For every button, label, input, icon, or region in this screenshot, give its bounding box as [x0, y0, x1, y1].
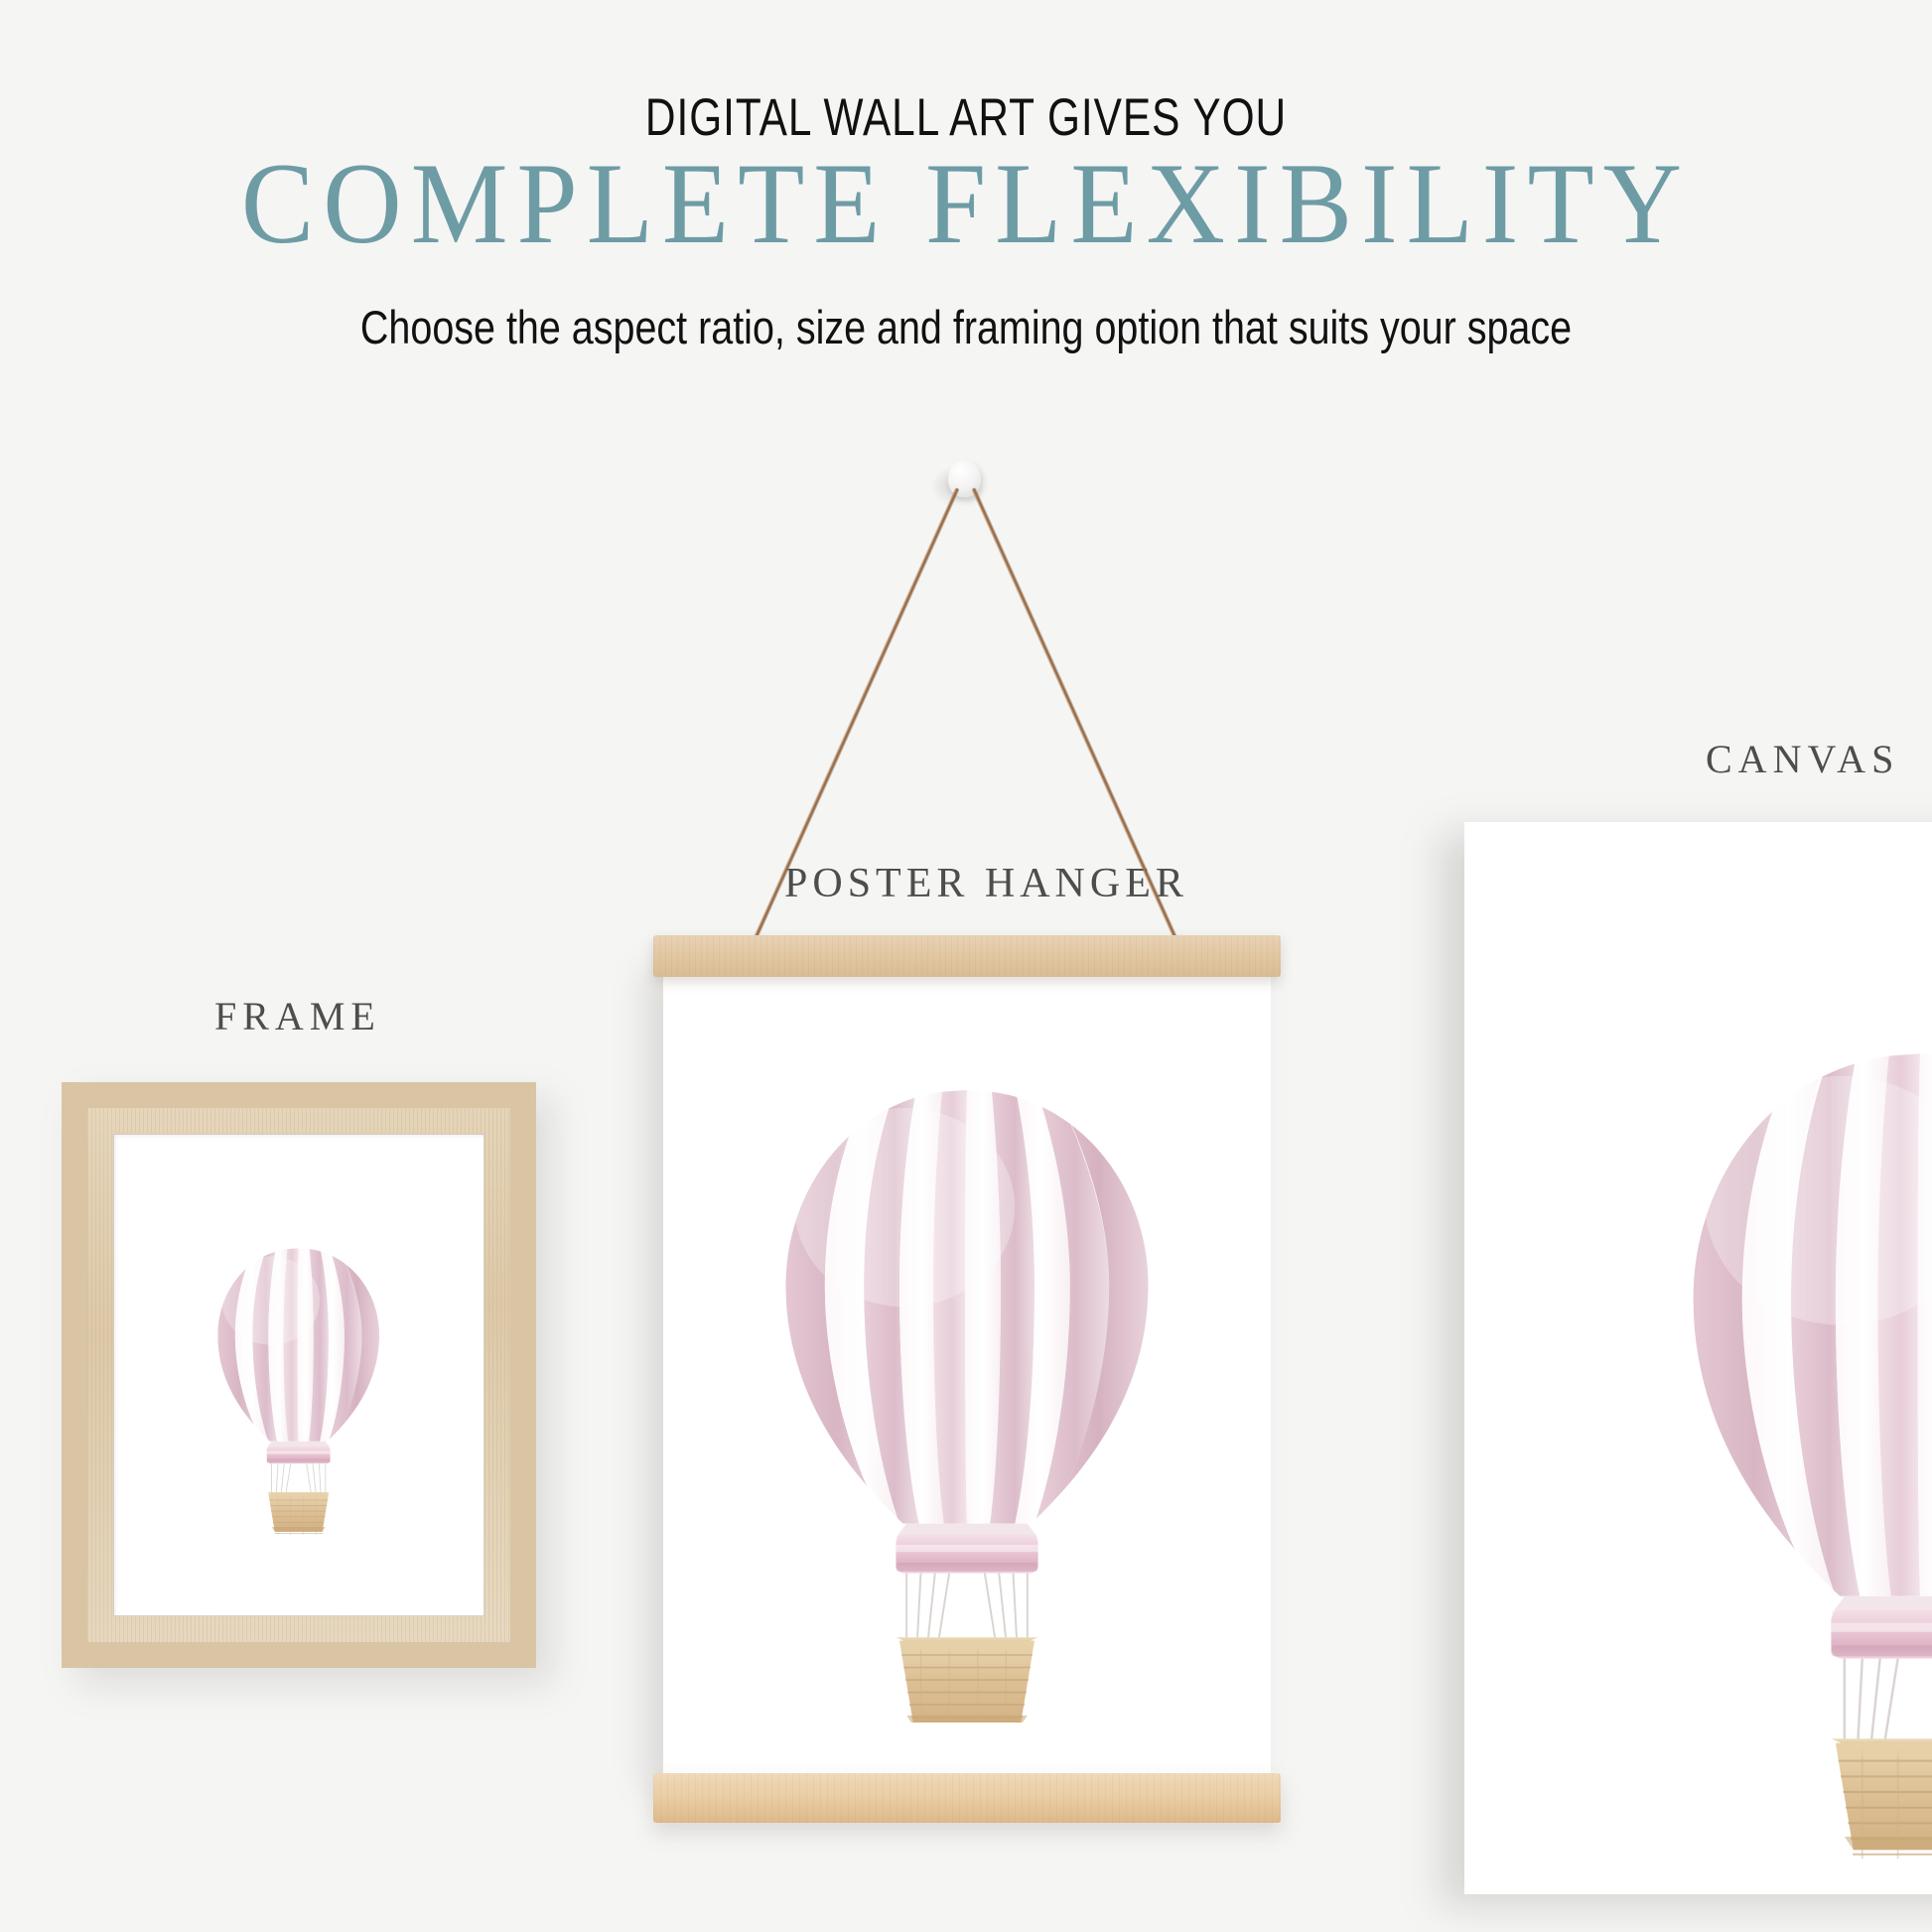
mockup-label-frame: FRAME [214, 993, 381, 1039]
header-subtitle: Choose the aspect ratio, size and framin… [155, 300, 1778, 354]
canvas-print-area [1464, 822, 1932, 1894]
hot-air-balloon-artwork [180, 1196, 417, 1563]
hot-air-balloon-artwork [1587, 951, 1932, 1894]
hot-air-balloon-artwork [663, 1047, 1271, 1723]
mockup-canvas[interactable] [1464, 822, 1932, 1894]
balloon-artwork-frame [180, 1196, 417, 1563]
mockup-frame[interactable] [62, 1082, 536, 1668]
mockup-label-poster-hanger: POSTER HANGER [784, 860, 1188, 907]
hanger-bar-bottom [653, 1773, 1281, 1823]
mockup-label-canvas: CANVAS [1706, 736, 1899, 782]
hanger-bar-top [653, 935, 1281, 977]
wall-art-mockup-page: DIGITAL WALL ART GIVES YOU COMPLETE FLEX… [0, 0, 1932, 1932]
balloon-artwork-poster [663, 1047, 1271, 1723]
balloon-artwork-canvas [1587, 951, 1932, 1894]
page-title: COMPLETE FLEXIBILITY [0, 137, 1932, 271]
frame-mat-print [113, 1134, 484, 1616]
